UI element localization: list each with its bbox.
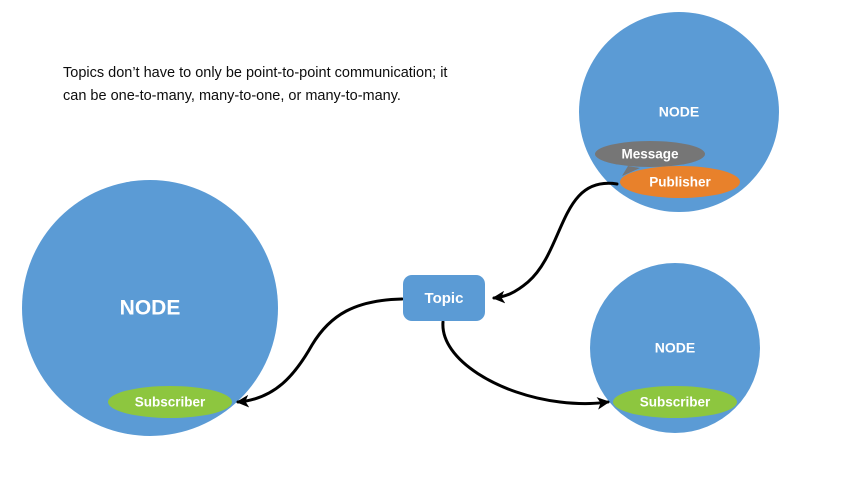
topic-box[interactable]: Topic [403,275,485,321]
caption-block: Topics don’t have to only be point-to-po… [63,65,447,104]
caption-line-1: Topics don’t have to only be point-to-po… [63,65,447,81]
caption-line-2: can be one-to-many, many-to-one, or many… [63,88,401,104]
message-label: Message [621,147,679,162]
subscriber-pill-left[interactable]: Subscriber [108,386,232,418]
publisher-pill[interactable]: Publisher [620,166,740,198]
node-label: NODE [659,104,699,120]
node-label: NODE [120,297,181,320]
topic-label: Topic [425,290,464,307]
connector-publisher-to-topic [494,183,617,298]
subscriber-label: Subscriber [640,395,711,410]
node-label: NODE [655,340,695,356]
subscriber-pill-right[interactable]: Subscriber [613,386,737,418]
subscriber-label: Subscriber [135,395,206,410]
connector-topic-to-subscriber-right [443,322,608,404]
pubsub-topic-diagram: Topics don’t have to only be point-to-po… [0,0,854,480]
publisher-label: Publisher [649,175,711,190]
slide-canvas: Topics don’t have to only be point-to-po… [0,0,854,480]
